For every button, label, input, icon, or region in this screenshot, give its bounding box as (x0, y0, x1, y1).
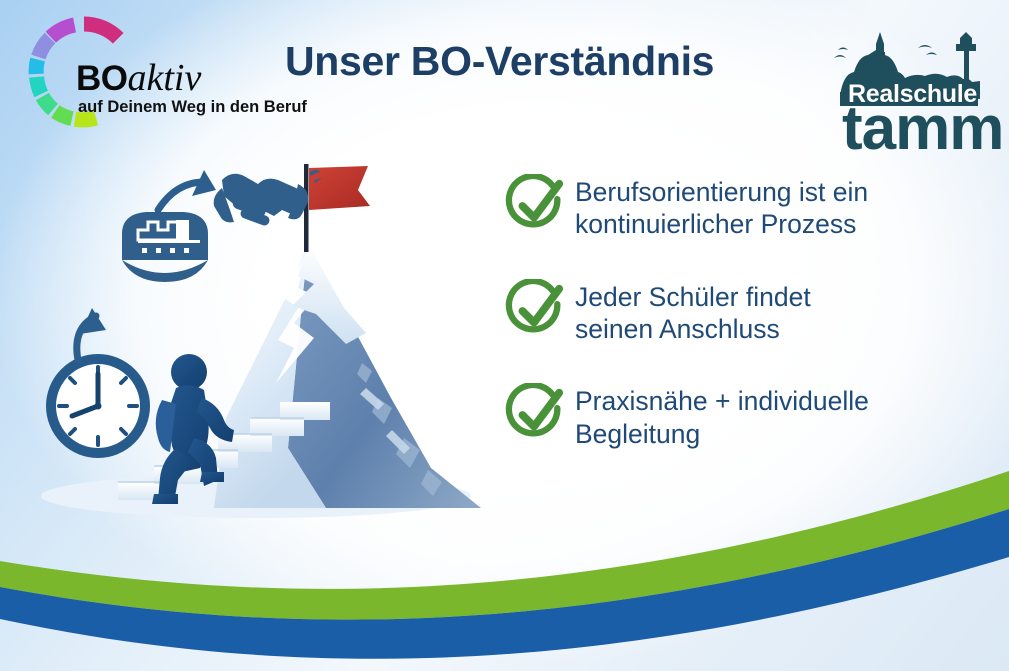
circle-check-icon (505, 279, 567, 341)
circle-check-icon (505, 383, 567, 445)
slide-canvas: BOaktiv auf Deinem Weg in den Beruf Unse… (0, 0, 1009, 671)
aktiv-text: aktiv (128, 57, 202, 99)
factory-building-icon (122, 212, 208, 282)
bullet-line-2: seinen Anschluss (575, 313, 811, 345)
bullet-line-1: Jeder Schüler findet (575, 281, 811, 313)
bo-aktiv-wordmark: BOaktiv (76, 56, 201, 100)
wave-decoration (0, 461, 1009, 671)
list-item: Praxisnähe + individuelle Begleitung (505, 381, 975, 450)
bullet-line-2: kontinuierlicher Prozess (575, 208, 868, 240)
bullet-line-2: Begleitung (575, 418, 869, 450)
slide-header: BOaktiv auf Deinem Weg in den Beruf Unse… (0, 0, 1009, 160)
bo-text: BO (76, 59, 128, 98)
list-item: Berufsorientierung ist ein kontinuierlic… (505, 172, 975, 241)
bullet-text: Praxisnähe + individuelle Begleitung (567, 381, 869, 450)
bullet-line-1: Berufsorientierung ist ein (575, 176, 868, 208)
bullet-list: Berufsorientierung ist ein kontinuierlic… (505, 172, 975, 486)
bo-aktiv-tagline: auf Deinem Weg in den Beruf (78, 98, 307, 117)
bullet-line-1: Praxisnähe + individuelle (575, 385, 869, 417)
list-item: Jeder Schüler findet seinen Anschluss (505, 277, 975, 346)
realschule-tamm-logo: Realschule tamm (820, 22, 1000, 152)
page-title: Unser BO-Verständnis (285, 38, 755, 85)
bo-aktiv-logo: BOaktiv auf Deinem Weg in den Beruf (18, 14, 278, 124)
bullet-text: Berufsorientierung ist ein kontinuierlic… (567, 172, 868, 241)
tamm-text: tamm (842, 98, 1003, 160)
clock-icon (51, 359, 145, 453)
circle-check-icon (505, 174, 567, 236)
bullet-text: Jeder Schüler findet seinen Anschluss (567, 277, 811, 346)
red-flag-icon (309, 166, 370, 210)
